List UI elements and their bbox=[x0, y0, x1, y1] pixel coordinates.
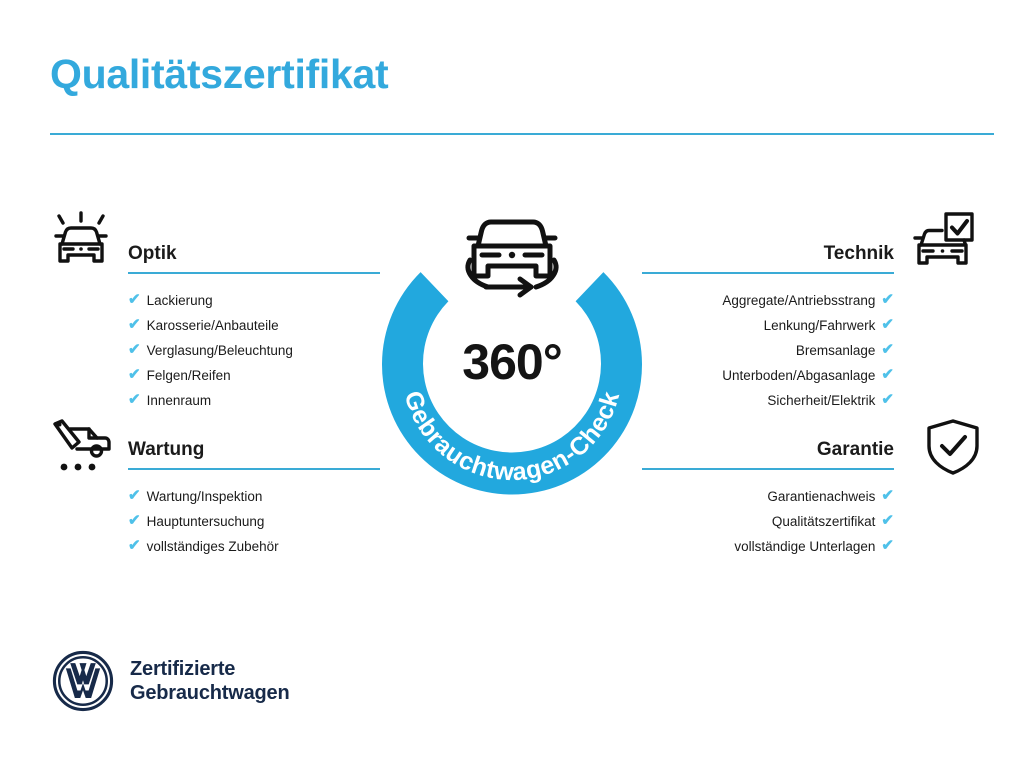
section-optik: Optik ✔Lackierung ✔Karosserie/Anbauteile… bbox=[128, 244, 380, 413]
list-item-label: Bremsanlage bbox=[796, 338, 876, 363]
check-icon: ✔ bbox=[128, 488, 141, 503]
list-item-label: Aggregate/Antriebsstrang bbox=[722, 288, 875, 313]
check-icon: ✔ bbox=[128, 367, 141, 382]
badge-curved-text: Gebrauchtwagen-Check bbox=[399, 388, 626, 487]
list-item: ✔Innenraum bbox=[128, 388, 380, 413]
list-item: ✔Wartung/Inspektion bbox=[128, 484, 380, 509]
section-heading-garantie: Garantie bbox=[642, 440, 894, 459]
check-icon: ✔ bbox=[128, 317, 141, 332]
check-icon: ✔ bbox=[881, 392, 894, 407]
section-heading-optik: Optik bbox=[128, 244, 380, 263]
title-divider bbox=[50, 133, 994, 135]
checklist-technik: Aggregate/Antriebsstrang✔ Lenkung/Fahrwe… bbox=[642, 288, 894, 413]
list-item: Bremsanlage✔ bbox=[642, 338, 894, 363]
check-icon: ✔ bbox=[128, 292, 141, 307]
check-icon: ✔ bbox=[881, 317, 894, 332]
list-item-label: Wartung/Inspektion bbox=[147, 484, 263, 509]
list-item: ✔Karosserie/Anbauteile bbox=[128, 313, 380, 338]
check-icon: ✔ bbox=[128, 342, 141, 357]
list-item-label: Verglasung/Beleuchtung bbox=[147, 338, 293, 363]
vw-certified-lockup: Zertifizierte Gebrauchtwagen bbox=[52, 650, 289, 712]
badge-number: 360° bbox=[368, 337, 656, 387]
list-item: ✔Lackierung bbox=[128, 288, 380, 313]
list-item: Aggregate/Antriebsstrang✔ bbox=[642, 288, 894, 313]
list-item: Qualitätszertifikat✔ bbox=[642, 509, 894, 534]
list-item-label: Hauptuntersuchung bbox=[147, 509, 265, 534]
list-item: ✔vollständiges Zubehör bbox=[128, 534, 380, 559]
checklist-optik: ✔Lackierung ✔Karosserie/Anbauteile ✔Verg… bbox=[128, 288, 380, 413]
check-icon: ✔ bbox=[881, 538, 894, 553]
list-item-label: Innenraum bbox=[147, 388, 212, 413]
check-icon: ✔ bbox=[128, 538, 141, 553]
check-icon: ✔ bbox=[128, 513, 141, 528]
list-item-label: vollständiges Zubehör bbox=[147, 534, 279, 559]
shield-check-icon bbox=[920, 416, 986, 478]
list-item-label: Qualitätszertifikat bbox=[772, 509, 876, 534]
section-heading-wartung: Wartung bbox=[128, 440, 380, 459]
section-wartung: Wartung ✔Wartung/Inspektion ✔Hauptunters… bbox=[128, 440, 380, 559]
check-icon: ✔ bbox=[881, 342, 894, 357]
check-icon: ✔ bbox=[881, 367, 894, 382]
checklist-garantie: Garantienachweis✔ Qualitätszertifikat✔ v… bbox=[642, 484, 894, 559]
list-item-label: vollständige Unterlagen bbox=[734, 534, 875, 559]
list-item-label: Lackierung bbox=[147, 288, 213, 313]
vw-lockup-line2: Gebrauchtwagen bbox=[130, 681, 289, 705]
section-technik: Technik Aggregate/Antriebsstrang✔ Lenkun… bbox=[642, 244, 894, 413]
list-item: ✔Hauptuntersuchung bbox=[128, 509, 380, 534]
section-divider-optik bbox=[128, 272, 380, 274]
list-item-label: Lenkung/Fahrwerk bbox=[764, 313, 876, 338]
section-divider-technik bbox=[642, 272, 894, 274]
car-checkbox-icon bbox=[910, 210, 976, 272]
list-item: Sicherheit/Elektrik✔ bbox=[642, 388, 894, 413]
checklist-wartung: ✔Wartung/Inspektion ✔Hauptuntersuchung ✔… bbox=[128, 484, 380, 559]
section-divider-garantie bbox=[642, 468, 894, 470]
gebrauchtwagen-check-badge: Gebrauchtwagen-Check 360° bbox=[368, 198, 656, 498]
section-heading-technik: Technik bbox=[642, 244, 894, 263]
list-item: Lenkung/Fahrwerk✔ bbox=[642, 313, 894, 338]
list-item-label: Sicherheit/Elektrik bbox=[767, 388, 875, 413]
page-title: Qualitätszertifikat bbox=[50, 52, 388, 97]
list-item-label: Garantienachweis bbox=[767, 484, 875, 509]
check-icon: ✔ bbox=[881, 488, 894, 503]
check-icon: ✔ bbox=[881, 513, 894, 528]
car-rotate-icon bbox=[468, 222, 556, 295]
list-item: ✔Verglasung/Beleuchtung bbox=[128, 338, 380, 363]
volkswagen-logo bbox=[52, 650, 114, 712]
vw-lockup-text: Zertifizierte Gebrauchtwagen bbox=[130, 657, 289, 706]
list-item-label: Unterboden/Abgasanlage bbox=[722, 363, 875, 388]
certificate-page: Qualitätszertifikat bbox=[0, 0, 1024, 768]
list-item: Garantienachweis✔ bbox=[642, 484, 894, 509]
list-item: vollständige Unterlagen✔ bbox=[642, 534, 894, 559]
list-item-label: Felgen/Reifen bbox=[147, 363, 231, 388]
section-garantie: Garantie Garantienachweis✔ Qualitätszert… bbox=[642, 440, 894, 559]
vw-lockup-line1: Zertifizierte bbox=[130, 657, 289, 681]
car-shine-icon bbox=[48, 208, 114, 270]
check-icon: ✔ bbox=[881, 292, 894, 307]
section-divider-wartung bbox=[128, 468, 380, 470]
wrench-car-icon bbox=[48, 416, 114, 478]
list-item-label: Karosserie/Anbauteile bbox=[147, 313, 279, 338]
list-item: Unterboden/Abgasanlage✔ bbox=[642, 363, 894, 388]
check-icon: ✔ bbox=[128, 392, 141, 407]
list-item: ✔Felgen/Reifen bbox=[128, 363, 380, 388]
